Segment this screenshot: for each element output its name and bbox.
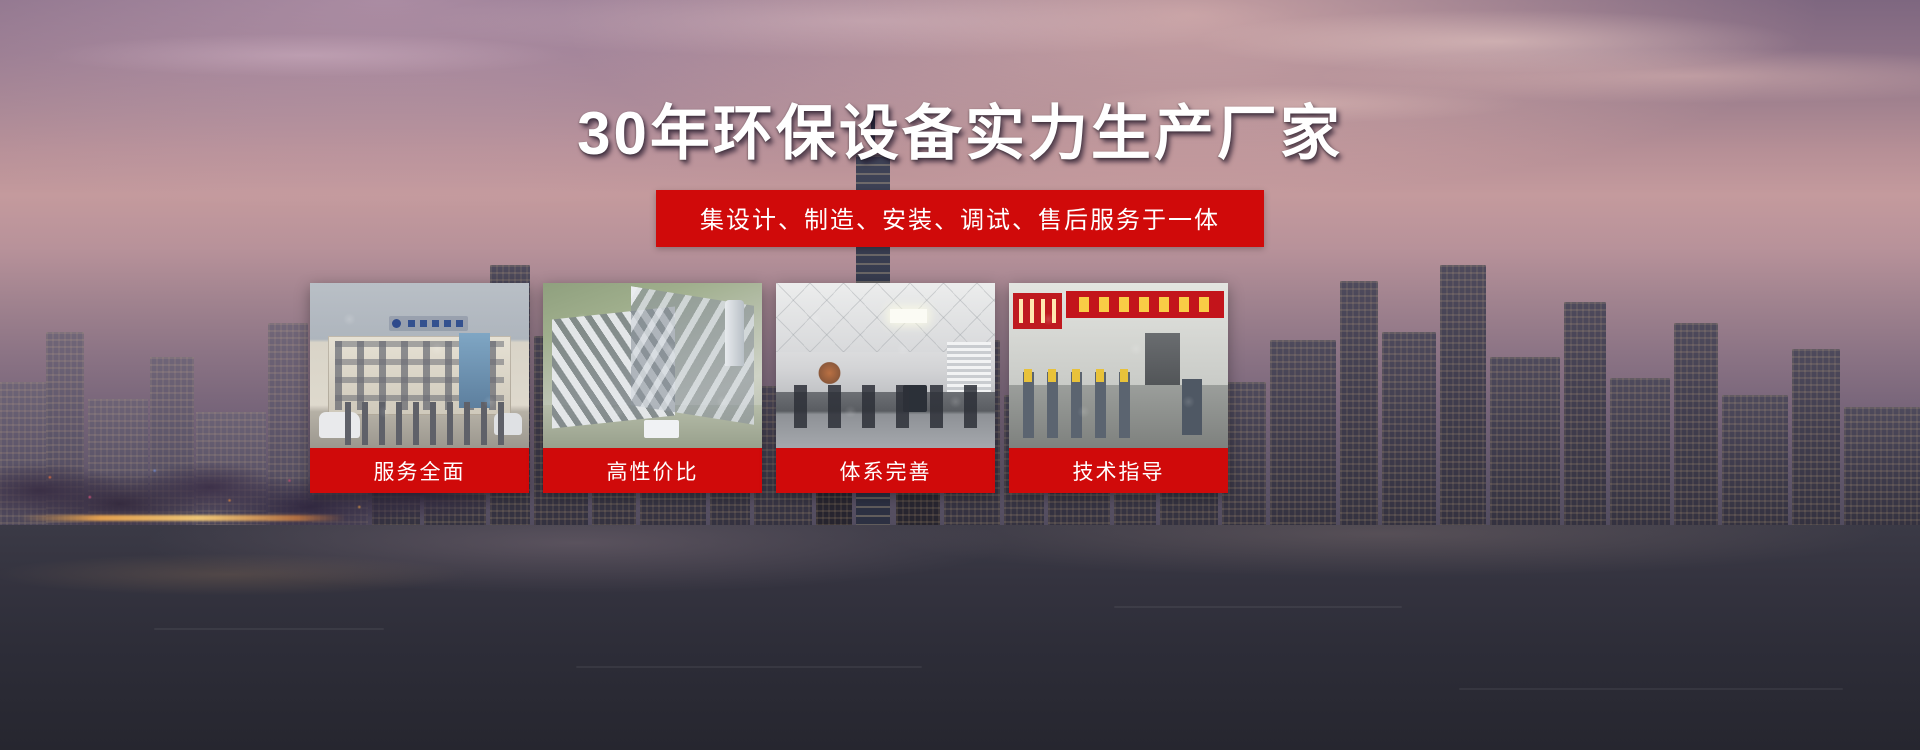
water-streak — [154, 628, 384, 630]
company-sign — [389, 316, 468, 331]
banner-subtitle: 集设计、制造、安装、调试、售后服务于一体 — [656, 190, 1264, 247]
card-photo-aerial-view-industrial-plant — [543, 283, 762, 448]
feature-card[interactable]: 高性价比 — [543, 283, 762, 493]
feature-card[interactable]: 技术指导 — [1009, 283, 1228, 493]
card-photo-factory-workers-technical-briefing — [1009, 283, 1228, 448]
lit-bridge — [19, 515, 345, 521]
card-caption: 体系完善 — [776, 448, 995, 493]
feature-card[interactable]: 服务全面 — [310, 283, 529, 493]
feature-card[interactable]: 体系完善 — [776, 283, 995, 493]
banner-headline: 30年环保设备实力生产厂家 — [0, 102, 1920, 165]
water-streak — [1459, 688, 1843, 690]
card-caption: 服务全面 — [310, 448, 529, 493]
factory-slogan-banner — [1066, 291, 1224, 317]
water-reflection — [0, 525, 1920, 750]
card-photo-office-interior-staff-working — [776, 283, 995, 448]
water-streak — [576, 666, 922, 668]
card-caption: 技术指导 — [1009, 448, 1228, 493]
hero-banner: 30年环保设备实力生产厂家 集设计、制造、安装、调试、售后服务于一体 服务全面 — [0, 0, 1920, 750]
subtitle-bar-wrapper: 集设计、制造、安装、调试、售后服务于一体 — [0, 190, 1920, 247]
card-photo-company-headquarters-building-with-staff — [310, 283, 529, 448]
safety-helmets — [1018, 369, 1141, 382]
card-caption: 高性价比 — [543, 448, 762, 493]
feature-card-row: 服务全面 高性价比 体系 — [310, 283, 1250, 493]
water-streak — [1114, 606, 1402, 608]
